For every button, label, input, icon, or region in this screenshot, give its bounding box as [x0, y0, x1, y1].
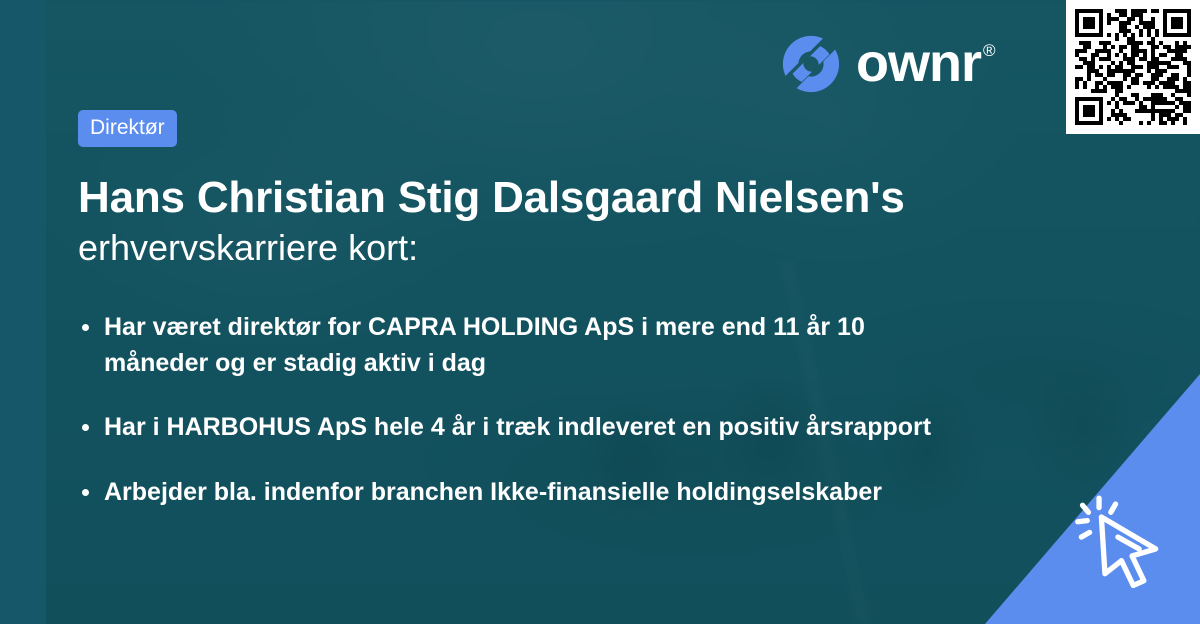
ownr-wordmark: ownr ®: [856, 39, 995, 89]
header-content: Direktør Hans Christian Stig Dalsgaard N…: [78, 110, 960, 269]
list-item: Har været direktør for CAPRA HOLDING ApS…: [78, 310, 938, 381]
career-highlights-list: Har været direktør for CAPRA HOLDING ApS…: [78, 310, 938, 539]
ownr-circle-logo-icon: [780, 33, 842, 95]
registered-trademark-icon: ®: [983, 42, 995, 59]
left-edge-band: [0, 0, 46, 624]
ownr-wordmark-text: ownr: [856, 39, 981, 89]
list-item: Har i HARBOHUS ApS hele 4 år i træk indl…: [78, 410, 938, 446]
list-item: Arbejder bla. indenfor branchen Ikke-fin…: [78, 475, 938, 511]
qr-code-matrix: [1075, 9, 1191, 125]
role-badge: Direktør: [78, 110, 177, 147]
ownr-logo[interactable]: ownr ®: [780, 33, 995, 95]
click-cursor-icon: [1066, 484, 1184, 602]
qr-code[interactable]: [1066, 0, 1200, 134]
career-summary-card: ownr ® Direktør Hans Christian Stig Dals…: [0, 0, 1200, 624]
page-title: Hans Christian Stig Dalsgaard Nielsen's: [78, 173, 960, 222]
page-subtitle: erhvervskarriere kort:: [78, 226, 960, 269]
